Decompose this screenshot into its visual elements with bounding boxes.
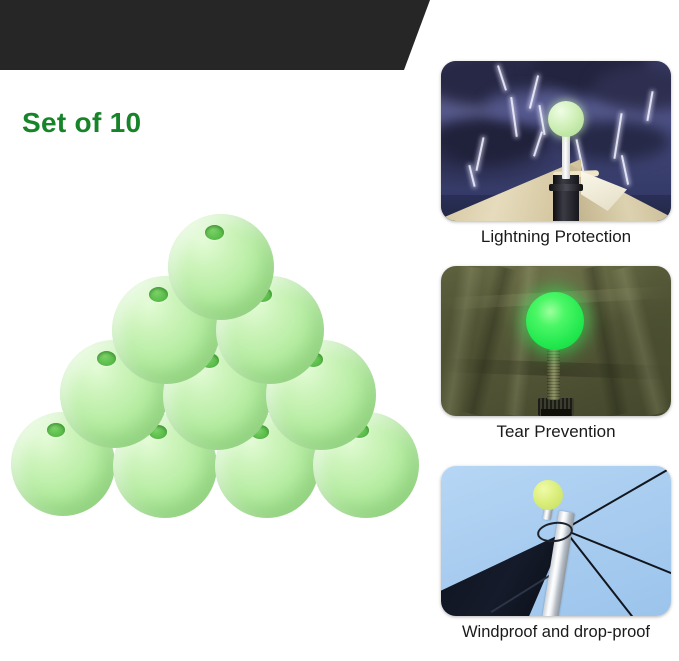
luminous-cap-ball	[533, 480, 563, 510]
product-photo-pyramid	[0, 190, 432, 570]
photo-lightning-protection	[441, 61, 671, 221]
header-banner	[0, 0, 430, 70]
feature-caption: Lightning Protection	[441, 226, 671, 248]
feature-lightning-protection: Lightning Protection	[441, 61, 671, 248]
guy-line	[565, 466, 672, 530]
feature-caption: Windproof and drop-proof	[421, 621, 679, 643]
pole-collar	[549, 184, 583, 191]
feature-tear-prevention: Tear Prevention	[441, 266, 671, 443]
luminous-cap-ball	[548, 101, 584, 137]
set-quantity-label: Set of 10	[22, 107, 141, 139]
ball-hole	[97, 351, 116, 366]
feature-windproof: Windproof and drop-proof	[441, 466, 671, 643]
product-ball	[168, 214, 274, 320]
feature-caption: Tear Prevention	[441, 421, 671, 443]
lightning-bolt-icon	[468, 165, 475, 187]
pole-base-collar	[541, 409, 571, 416]
ball-hole	[149, 287, 168, 302]
ball-hole	[47, 423, 65, 437]
photo-windproof-dropproof	[441, 466, 671, 616]
luminous-cap-ball	[526, 292, 584, 350]
pole-base	[553, 175, 579, 221]
ball-hole	[205, 225, 224, 240]
photo-tear-prevention	[441, 266, 671, 416]
